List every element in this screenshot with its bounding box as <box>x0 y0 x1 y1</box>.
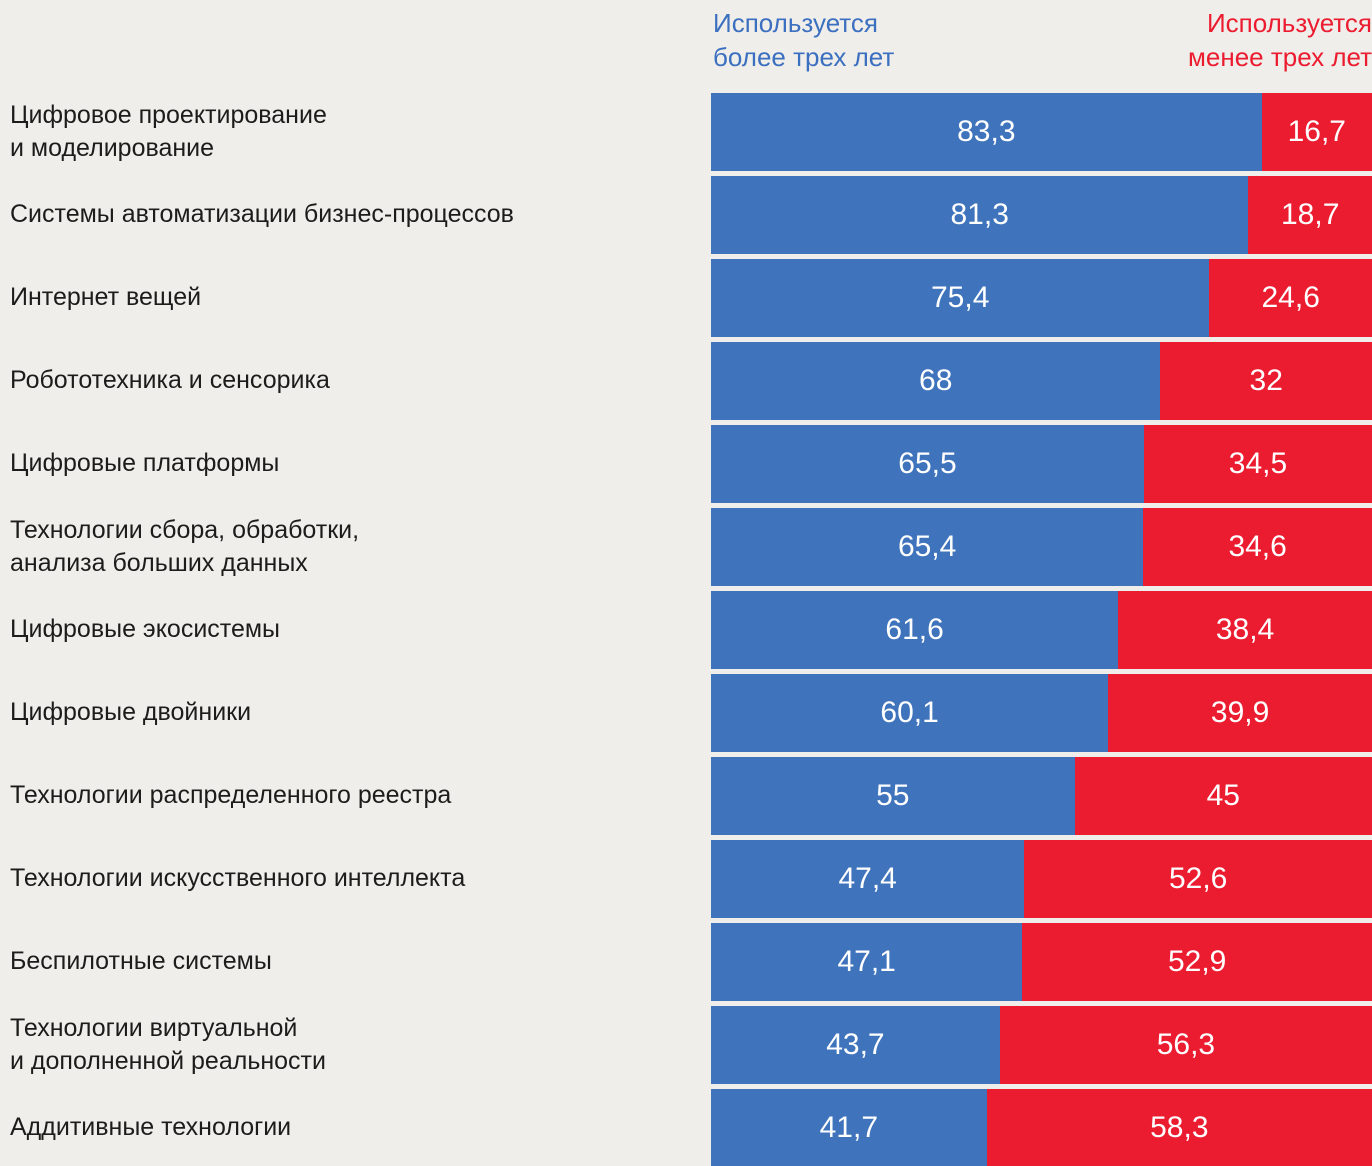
chart-row: Цифровые двойники60,139,9 <box>0 674 1372 752</box>
row-category-label: Технологии искусственного интеллекта <box>0 840 711 918</box>
bar-segment-less-than-three-years: 34,5 <box>1144 425 1372 503</box>
bar-value-label: 56,3 <box>1157 1030 1215 1060</box>
bar-value-label: 52,6 <box>1169 864 1227 894</box>
row-bar-track: 43,756,3 <box>711 1006 1372 1084</box>
chart-row: Аддитивные технологии41,758,3 <box>0 1089 1372 1166</box>
legend-item-less-than-three-years: Используется менее трех лет <box>1188 6 1372 75</box>
bar-value-label: 34,5 <box>1229 449 1287 479</box>
bar-value-label: 52,9 <box>1168 947 1226 977</box>
row-bar-track: 61,638,4 <box>711 591 1372 669</box>
bar-segment-less-than-three-years: 34,6 <box>1143 508 1372 586</box>
bar-value-label: 47,1 <box>837 947 895 977</box>
bar-value-label: 38,4 <box>1216 615 1274 645</box>
bar-segment-less-than-three-years: 45 <box>1075 757 1372 835</box>
row-category-label: Цифровые двойники <box>0 674 711 752</box>
row-bar-track: 47,152,9 <box>711 923 1372 1001</box>
row-bar-track: 65,534,5 <box>711 425 1372 503</box>
chart-legend: Используется более трех лет Используется… <box>711 0 1372 93</box>
bar-value-label: 65,5 <box>898 449 956 479</box>
chart-row: Интернет вещей75,424,6 <box>0 259 1372 337</box>
bar-segment-more-than-three-years: 47,4 <box>711 840 1024 918</box>
bar-segment-less-than-three-years: 24,6 <box>1209 259 1372 337</box>
row-bar-track: 81,318,7 <box>711 176 1372 254</box>
row-category-label: Интернет вещей <box>0 259 711 337</box>
bar-value-label: 65,4 <box>898 532 956 562</box>
bar-value-label: 24,6 <box>1261 283 1319 313</box>
bar-segment-less-than-three-years: 39,9 <box>1108 674 1372 752</box>
row-bar-track: 83,316,7 <box>711 93 1372 171</box>
bar-segment-more-than-three-years: 65,5 <box>711 425 1144 503</box>
bar-value-label: 55 <box>876 781 909 811</box>
bar-segment-less-than-three-years: 52,9 <box>1022 923 1372 1001</box>
row-category-label: Технологии виртуальной и дополненной реа… <box>0 1006 711 1084</box>
bar-value-label: 83,3 <box>957 117 1015 147</box>
bar-segment-more-than-three-years: 81,3 <box>711 176 1248 254</box>
chart-row: Технологии виртуальной и дополненной реа… <box>0 1006 1372 1084</box>
row-category-label: Аддитивные технологии <box>0 1089 711 1166</box>
row-category-label: Системы автоматизации бизнес-процессов <box>0 176 711 254</box>
bar-segment-less-than-three-years: 58,3 <box>987 1089 1372 1166</box>
bar-segment-more-than-three-years: 60,1 <box>711 674 1108 752</box>
row-category-label: Технологии распределенного реестра <box>0 757 711 835</box>
bar-segment-more-than-three-years: 55 <box>711 757 1075 835</box>
chart-row: Робототехника и сенсорика6832 <box>0 342 1372 420</box>
bar-segment-more-than-three-years: 65,4 <box>711 508 1143 586</box>
bar-segment-less-than-three-years: 56,3 <box>1000 1006 1372 1084</box>
chart-row: Цифровые экосистемы61,638,4 <box>0 591 1372 669</box>
chart-row: Технологии сбора, обработки, анализа бол… <box>0 508 1372 586</box>
row-bar-track: 47,452,6 <box>711 840 1372 918</box>
bar-segment-less-than-three-years: 18,7 <box>1248 176 1372 254</box>
chart-row: Технологии распределенного реестра5545 <box>0 757 1372 835</box>
bar-value-label: 60,1 <box>880 698 938 728</box>
bar-value-label: 43,7 <box>826 1030 884 1060</box>
bar-value-label: 16,7 <box>1288 117 1346 147</box>
bar-segment-less-than-three-years: 38,4 <box>1118 591 1372 669</box>
bar-value-label: 34,6 <box>1228 532 1286 562</box>
bar-value-label: 39,9 <box>1211 698 1269 728</box>
stacked-bar-chart: Используется более трех лет Используется… <box>0 0 1372 1166</box>
row-category-label: Робототехника и сенсорика <box>0 342 711 420</box>
bar-segment-more-than-three-years: 43,7 <box>711 1006 1000 1084</box>
row-category-label: Беспилотные системы <box>0 923 711 1001</box>
bar-segment-less-than-three-years: 32 <box>1160 342 1372 420</box>
chart-row: Технологии искусственного интеллекта47,4… <box>0 840 1372 918</box>
bar-segment-more-than-three-years: 41,7 <box>711 1089 987 1166</box>
chart-row: Системы автоматизации бизнес-процессов81… <box>0 176 1372 254</box>
bar-segment-more-than-three-years: 68 <box>711 342 1160 420</box>
bar-value-label: 18,7 <box>1281 200 1339 230</box>
bar-segment-less-than-three-years: 52,6 <box>1024 840 1372 918</box>
bar-value-label: 45 <box>1207 781 1240 811</box>
row-bar-track: 5545 <box>711 757 1372 835</box>
row-category-label: Цифровое проектирование и моделирование <box>0 93 711 171</box>
bar-value-label: 81,3 <box>951 200 1009 230</box>
row-bar-track: 75,424,6 <box>711 259 1372 337</box>
bar-segment-less-than-three-years: 16,7 <box>1262 93 1372 171</box>
bar-value-label: 41,7 <box>820 1113 878 1143</box>
row-bar-track: 60,139,9 <box>711 674 1372 752</box>
row-category-label: Цифровые экосистемы <box>0 591 711 669</box>
bar-value-label: 75,4 <box>931 283 989 313</box>
bar-value-label: 61,6 <box>885 615 943 645</box>
bar-segment-more-than-three-years: 61,6 <box>711 591 1118 669</box>
chart-row: Беспилотные системы47,152,9 <box>0 923 1372 1001</box>
bar-value-label: 68 <box>919 366 952 396</box>
row-bar-track: 6832 <box>711 342 1372 420</box>
bar-value-label: 32 <box>1250 366 1283 396</box>
chart-row: Цифровые платформы65,534,5 <box>0 425 1372 503</box>
bar-value-label: 47,4 <box>838 864 896 894</box>
bar-segment-more-than-three-years: 83,3 <box>711 93 1262 171</box>
chart-row: Цифровое проектирование и моделирование8… <box>0 93 1372 171</box>
row-category-label: Технологии сбора, обработки, анализа бол… <box>0 508 711 586</box>
bar-segment-more-than-three-years: 47,1 <box>711 923 1022 1001</box>
bar-value-label: 58,3 <box>1150 1113 1208 1143</box>
row-category-label: Цифровые платформы <box>0 425 711 503</box>
row-bar-track: 41,758,3 <box>711 1089 1372 1166</box>
row-bar-track: 65,434,6 <box>711 508 1372 586</box>
bar-segment-more-than-three-years: 75,4 <box>711 259 1209 337</box>
chart-rows: Цифровое проектирование и моделирование8… <box>0 93 1372 1166</box>
legend-item-more-than-three-years: Используется более трех лет <box>711 6 894 75</box>
